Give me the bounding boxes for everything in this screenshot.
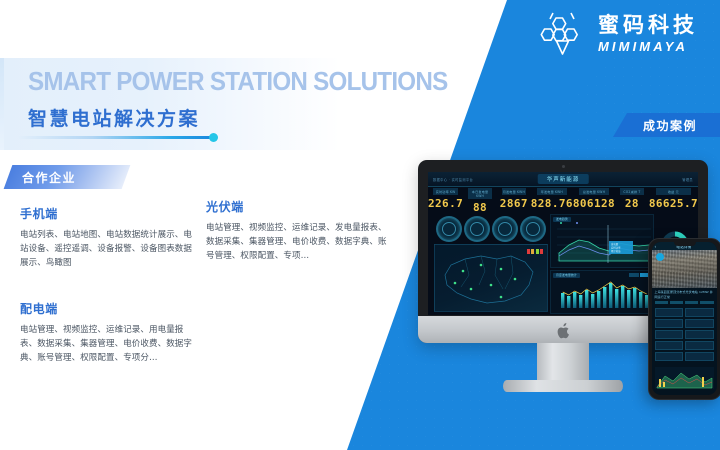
gauge-ring-icon bbox=[520, 216, 546, 242]
table-cell bbox=[685, 319, 714, 328]
region-map-icon bbox=[435, 245, 547, 311]
phone-chip-row[interactable] bbox=[652, 299, 717, 306]
kpi-card: 本日发电量 KWH 88 bbox=[463, 188, 497, 212]
kpi-value: 828.76 bbox=[531, 197, 573, 210]
table-cell bbox=[655, 330, 684, 339]
table-row bbox=[655, 330, 714, 339]
status-led bbox=[531, 249, 534, 254]
poster-canvas: 蜜码科技 MIMIMAYA SMART POWER STATION SOLUTI… bbox=[0, 0, 720, 450]
feature-block-distribution: 配电端 电站管理、视频监控、运维记录、用电量报表、数据采集、集器管理、电价收费、… bbox=[20, 300, 200, 365]
feature-heading: 手机端 bbox=[20, 205, 200, 222]
table-cell bbox=[655, 352, 684, 361]
kpi-value: 86625.7 bbox=[649, 197, 698, 210]
kpi-card: 年发电量 KWH 828.76 bbox=[531, 188, 573, 212]
kpi-label: 实时功率 KW bbox=[433, 188, 458, 195]
dashboard-kpi-row: 实时功率 KW 226.7 本日发电量 KWH 88 月发电量 KWH 2867… bbox=[428, 188, 698, 212]
svg-text:累计收益: 累计收益 bbox=[611, 249, 621, 253]
table-cell bbox=[685, 308, 714, 317]
phone-chart-svg bbox=[655, 367, 714, 389]
phone-data-grid bbox=[652, 306, 717, 365]
dashboard-map-panel bbox=[434, 244, 548, 312]
kpi-value: 88 bbox=[463, 201, 497, 214]
kpi-card: 月发电量 KWH 2867 bbox=[497, 188, 531, 212]
line-chart-svg: 发电量实时功率累计收益 bbox=[551, 215, 653, 267]
hexagon-bee-icon bbox=[536, 8, 588, 60]
dashboard-title: 华声新能源 bbox=[538, 174, 589, 184]
iphone-mockup: ‹ 电站详情 上海某园区屋顶分布式光伏电站 12MW 并网运行正常 bbox=[648, 238, 720, 400]
table-row bbox=[655, 341, 714, 350]
feature-block-mobile: 手机端 电站列表、电站地图、电站数据统计展示、电站设备、遥控遥调、设备报警、设备… bbox=[20, 205, 200, 270]
table-cell bbox=[685, 330, 714, 339]
imac-stand-foot bbox=[503, 380, 623, 392]
kpi-label: 月发电量 KWH bbox=[502, 188, 526, 195]
feature-heading: 配电端 bbox=[20, 300, 200, 317]
hero-title-cn: 智慧电站解决方案 bbox=[28, 104, 479, 131]
dashboard-line-chart: 发电趋势 发电量实时功率累计收益 bbox=[550, 214, 654, 268]
feature-heading: 光伏端 bbox=[206, 198, 392, 215]
chevron-left-icon[interactable]: ‹ bbox=[655, 244, 657, 249]
case-badge-label: 成功案例 bbox=[643, 117, 697, 134]
phone-chip[interactable] bbox=[655, 301, 668, 304]
kpi-card: CO2减排 T 28 bbox=[615, 188, 649, 212]
kpi-label: 总发电量 KWH bbox=[579, 188, 609, 195]
phone-site-photo bbox=[652, 250, 717, 288]
phone-chip[interactable] bbox=[685, 301, 698, 304]
hero-title-block: SMART POWER STATION SOLUTIONS 智慧电站解决方案 bbox=[28, 66, 479, 131]
phone-caption: 上海某园区屋顶分布式光伏电站 12MW 并网运行正常 bbox=[652, 288, 717, 300]
status-led bbox=[536, 249, 539, 254]
phone-mini-chart bbox=[655, 367, 714, 389]
gauge-ring-icon bbox=[436, 216, 462, 242]
hero-title-en: SMART POWER STATION SOLUTIONS bbox=[28, 66, 447, 97]
feature-body: 电站列表、电站地图、电站数据统计展示、电站设备、遥控遥调、设备报警、设备图表数据… bbox=[20, 229, 200, 270]
phone-chip[interactable] bbox=[700, 301, 713, 304]
dashboard-header: 数据中心 · 实时监测平台 华声新能源 管理员 bbox=[428, 172, 698, 187]
dashboard-bar-chart: 月度发电量统计 bbox=[550, 270, 654, 314]
phone-app-screen: ‹ 电站详情 上海某园区屋顶分布式光伏电站 12MW 并网运行正常 bbox=[652, 242, 717, 395]
kpi-card: 总发电量 KWH 806128 bbox=[573, 188, 615, 212]
status-led bbox=[527, 249, 530, 254]
imac-camera-icon bbox=[562, 165, 565, 168]
kpi-label: 本日发电量 KWH bbox=[468, 188, 492, 199]
svg-text:发电量: 发电量 bbox=[611, 242, 619, 246]
hero-light-panel-edge bbox=[0, 58, 4, 150]
kpi-label: CO2减排 T bbox=[620, 188, 644, 195]
kpi-value: 226.7 bbox=[428, 197, 463, 210]
table-row bbox=[655, 352, 714, 361]
partner-badge-label: 合作企业 bbox=[22, 169, 76, 186]
feature-body: 电站管理、视频监控、运维记录、用电量报表、数据采集、集器管理、电价收费、数据字典… bbox=[20, 324, 200, 365]
kpi-card: 实时功率 KW 226.7 bbox=[428, 188, 463, 212]
kpi-value: 2867 bbox=[497, 197, 531, 210]
feature-body: 电站管理、视频监控、运维记录、发电量报表、数据采集、集器管理、电价收费、数据字典… bbox=[206, 222, 392, 263]
apple-logo-icon bbox=[556, 323, 570, 339]
table-cell bbox=[685, 341, 714, 350]
panel-tag: 发电趋势 bbox=[553, 217, 571, 222]
kpi-value: 806128 bbox=[573, 197, 615, 210]
dashboard-header-right: 管理员 bbox=[682, 177, 693, 182]
table-cell bbox=[655, 319, 684, 328]
table-row bbox=[655, 319, 714, 328]
hero-accent-dot bbox=[209, 133, 218, 142]
brand-logo: 蜜码科技 MIMIMAYA bbox=[536, 8, 698, 60]
imac-stand-neck bbox=[537, 343, 589, 383]
table-row bbox=[655, 308, 714, 317]
brand-name-en: MIMIMAYA bbox=[598, 40, 698, 53]
gauge-ring-icon bbox=[464, 216, 490, 242]
kpi-value: 28 bbox=[615, 197, 649, 210]
live-dot-icon[interactable] bbox=[656, 253, 664, 261]
table-cell bbox=[655, 341, 684, 350]
kpi-label: 收益 元 bbox=[656, 188, 691, 195]
panel-tag: 月度发电量统计 bbox=[553, 273, 580, 278]
status-led bbox=[540, 249, 543, 254]
dashboard-header-left: 数据中心 · 实时监测平台 bbox=[433, 177, 473, 182]
feature-block-photovoltaic: 光伏端 电站管理、视频监控、运维记录、发电量报表、数据采集、集器管理、电价收费、… bbox=[206, 198, 392, 263]
hero-accent-rule bbox=[18, 136, 214, 139]
table-cell bbox=[685, 352, 714, 361]
table-cell bbox=[655, 308, 684, 317]
kpi-card: 收益 元 86625.7 bbox=[649, 188, 698, 212]
svg-text:实时功率: 实时功率 bbox=[611, 246, 621, 250]
phone-chip[interactable] bbox=[670, 301, 683, 304]
gauge-ring-icon bbox=[492, 216, 518, 242]
brand-logo-text: 蜜码科技 MIMIMAYA bbox=[598, 15, 698, 53]
status-led-group bbox=[527, 249, 544, 254]
kpi-label: 年发电量 KWH bbox=[537, 188, 567, 195]
brand-name-cn: 蜜码科技 bbox=[598, 15, 698, 36]
iphone-notch bbox=[674, 241, 696, 246]
